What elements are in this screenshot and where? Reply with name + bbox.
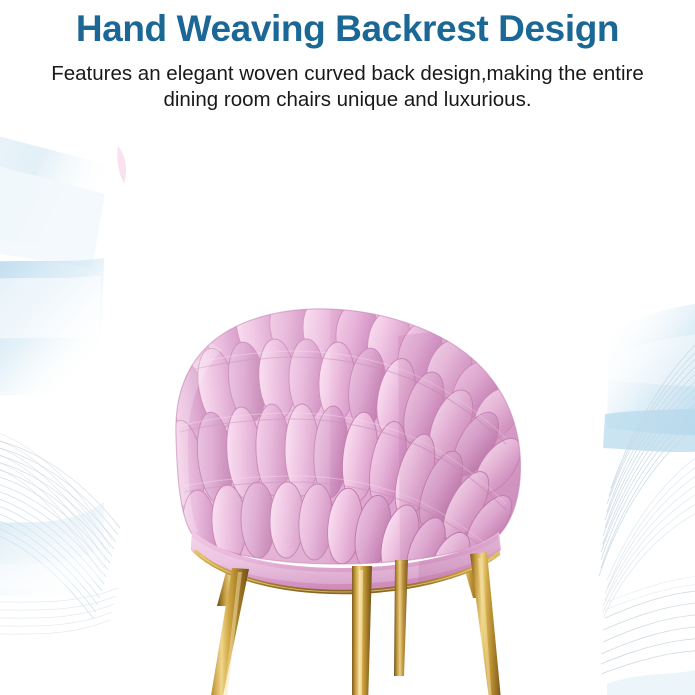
chair-leg-front-right — [470, 552, 503, 695]
chair-leg-inner-strut — [394, 560, 408, 676]
page-subtitle: Features an elegant woven curved back de… — [0, 51, 695, 114]
woven-backrest-chair-illustration — [0, 136, 695, 695]
chair-leg-center-front — [352, 566, 372, 695]
header: Hand Weaving Backrest Design Features an… — [0, 0, 695, 136]
product-feature-banner: Hand Weaving Backrest Design Features an… — [0, 0, 695, 695]
page-title: Hand Weaving Backrest Design — [0, 0, 695, 51]
product-image — [0, 136, 695, 695]
